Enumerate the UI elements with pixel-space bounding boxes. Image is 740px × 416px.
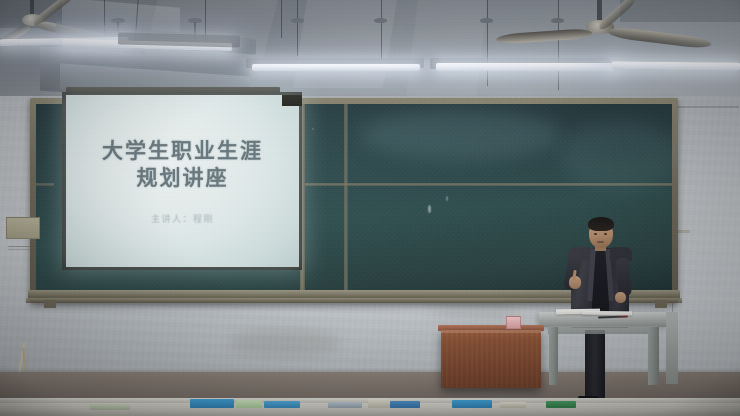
tube-light-far-right [612,61,740,70]
presenter-eye [604,233,607,235]
book [500,402,526,408]
plaque-underline [8,246,36,247]
podium-grain [441,330,541,388]
hanging-wire [487,0,488,86]
presenter-hand-right [615,292,626,303]
book [190,399,234,408]
plaque-board [6,217,40,239]
desk-leg [549,327,558,385]
blackboard-glare [560,120,680,190]
tray-bracket [655,300,667,308]
screen-notch [282,95,302,106]
presenter-mouth [597,241,604,243]
slide-subtitle: 主讲人：程刚 [66,212,299,225]
ceiling-panel [406,0,488,96]
fixture-hanger [374,18,387,23]
book [236,400,262,408]
slide-title-line-2: 规划讲座 [66,165,299,191]
classroom-photo: 大学生职业生涯 规划讲座 主讲人：程刚 ····· [0,0,740,416]
tube-light-right [436,63,614,71]
hanging-wire [381,0,382,60]
podium-highlight [441,330,541,333]
wall-smudge [230,330,340,356]
presenter-legs [585,330,605,402]
hanging-wire [281,0,282,38]
blackboard-divider-vertical [344,104,348,294]
door-header [673,106,739,108]
plaque-underline [8,249,30,250]
book [390,401,420,408]
chalk-mark [428,205,431,213]
chalk-mark [446,196,448,201]
desk-leg [648,327,659,385]
slide-title-line-1: 大学生职业生涯 [66,138,299,164]
book [264,401,300,408]
tray-bracket [44,300,56,308]
chalk-mark [312,128,314,130]
projection-screen: 大学生职业生涯 规划讲座 主讲人：程刚 [66,95,299,267]
plaque-caption: ····· [10,211,38,215]
tube-light-center [252,64,420,71]
book [546,401,576,408]
fixture-hanger [480,18,493,23]
book [368,398,390,408]
desk-apron [548,326,658,334]
blackboard-divider-horizontal [36,183,54,186]
red-card-on-podium [506,316,521,329]
desk-side-panel [666,312,678,384]
blackboard-glare [360,110,560,160]
book [452,400,492,408]
presenter-hair [588,217,614,231]
fan-downrod [597,0,602,22]
fixture-hanger [551,18,564,23]
book [90,404,130,410]
hanging-wire [297,0,298,56]
ceiling-shadow [620,0,740,22]
presenter-eye [594,233,597,235]
hanging-wire [558,0,559,90]
fixture-hanger [291,18,304,23]
book [328,402,362,408]
